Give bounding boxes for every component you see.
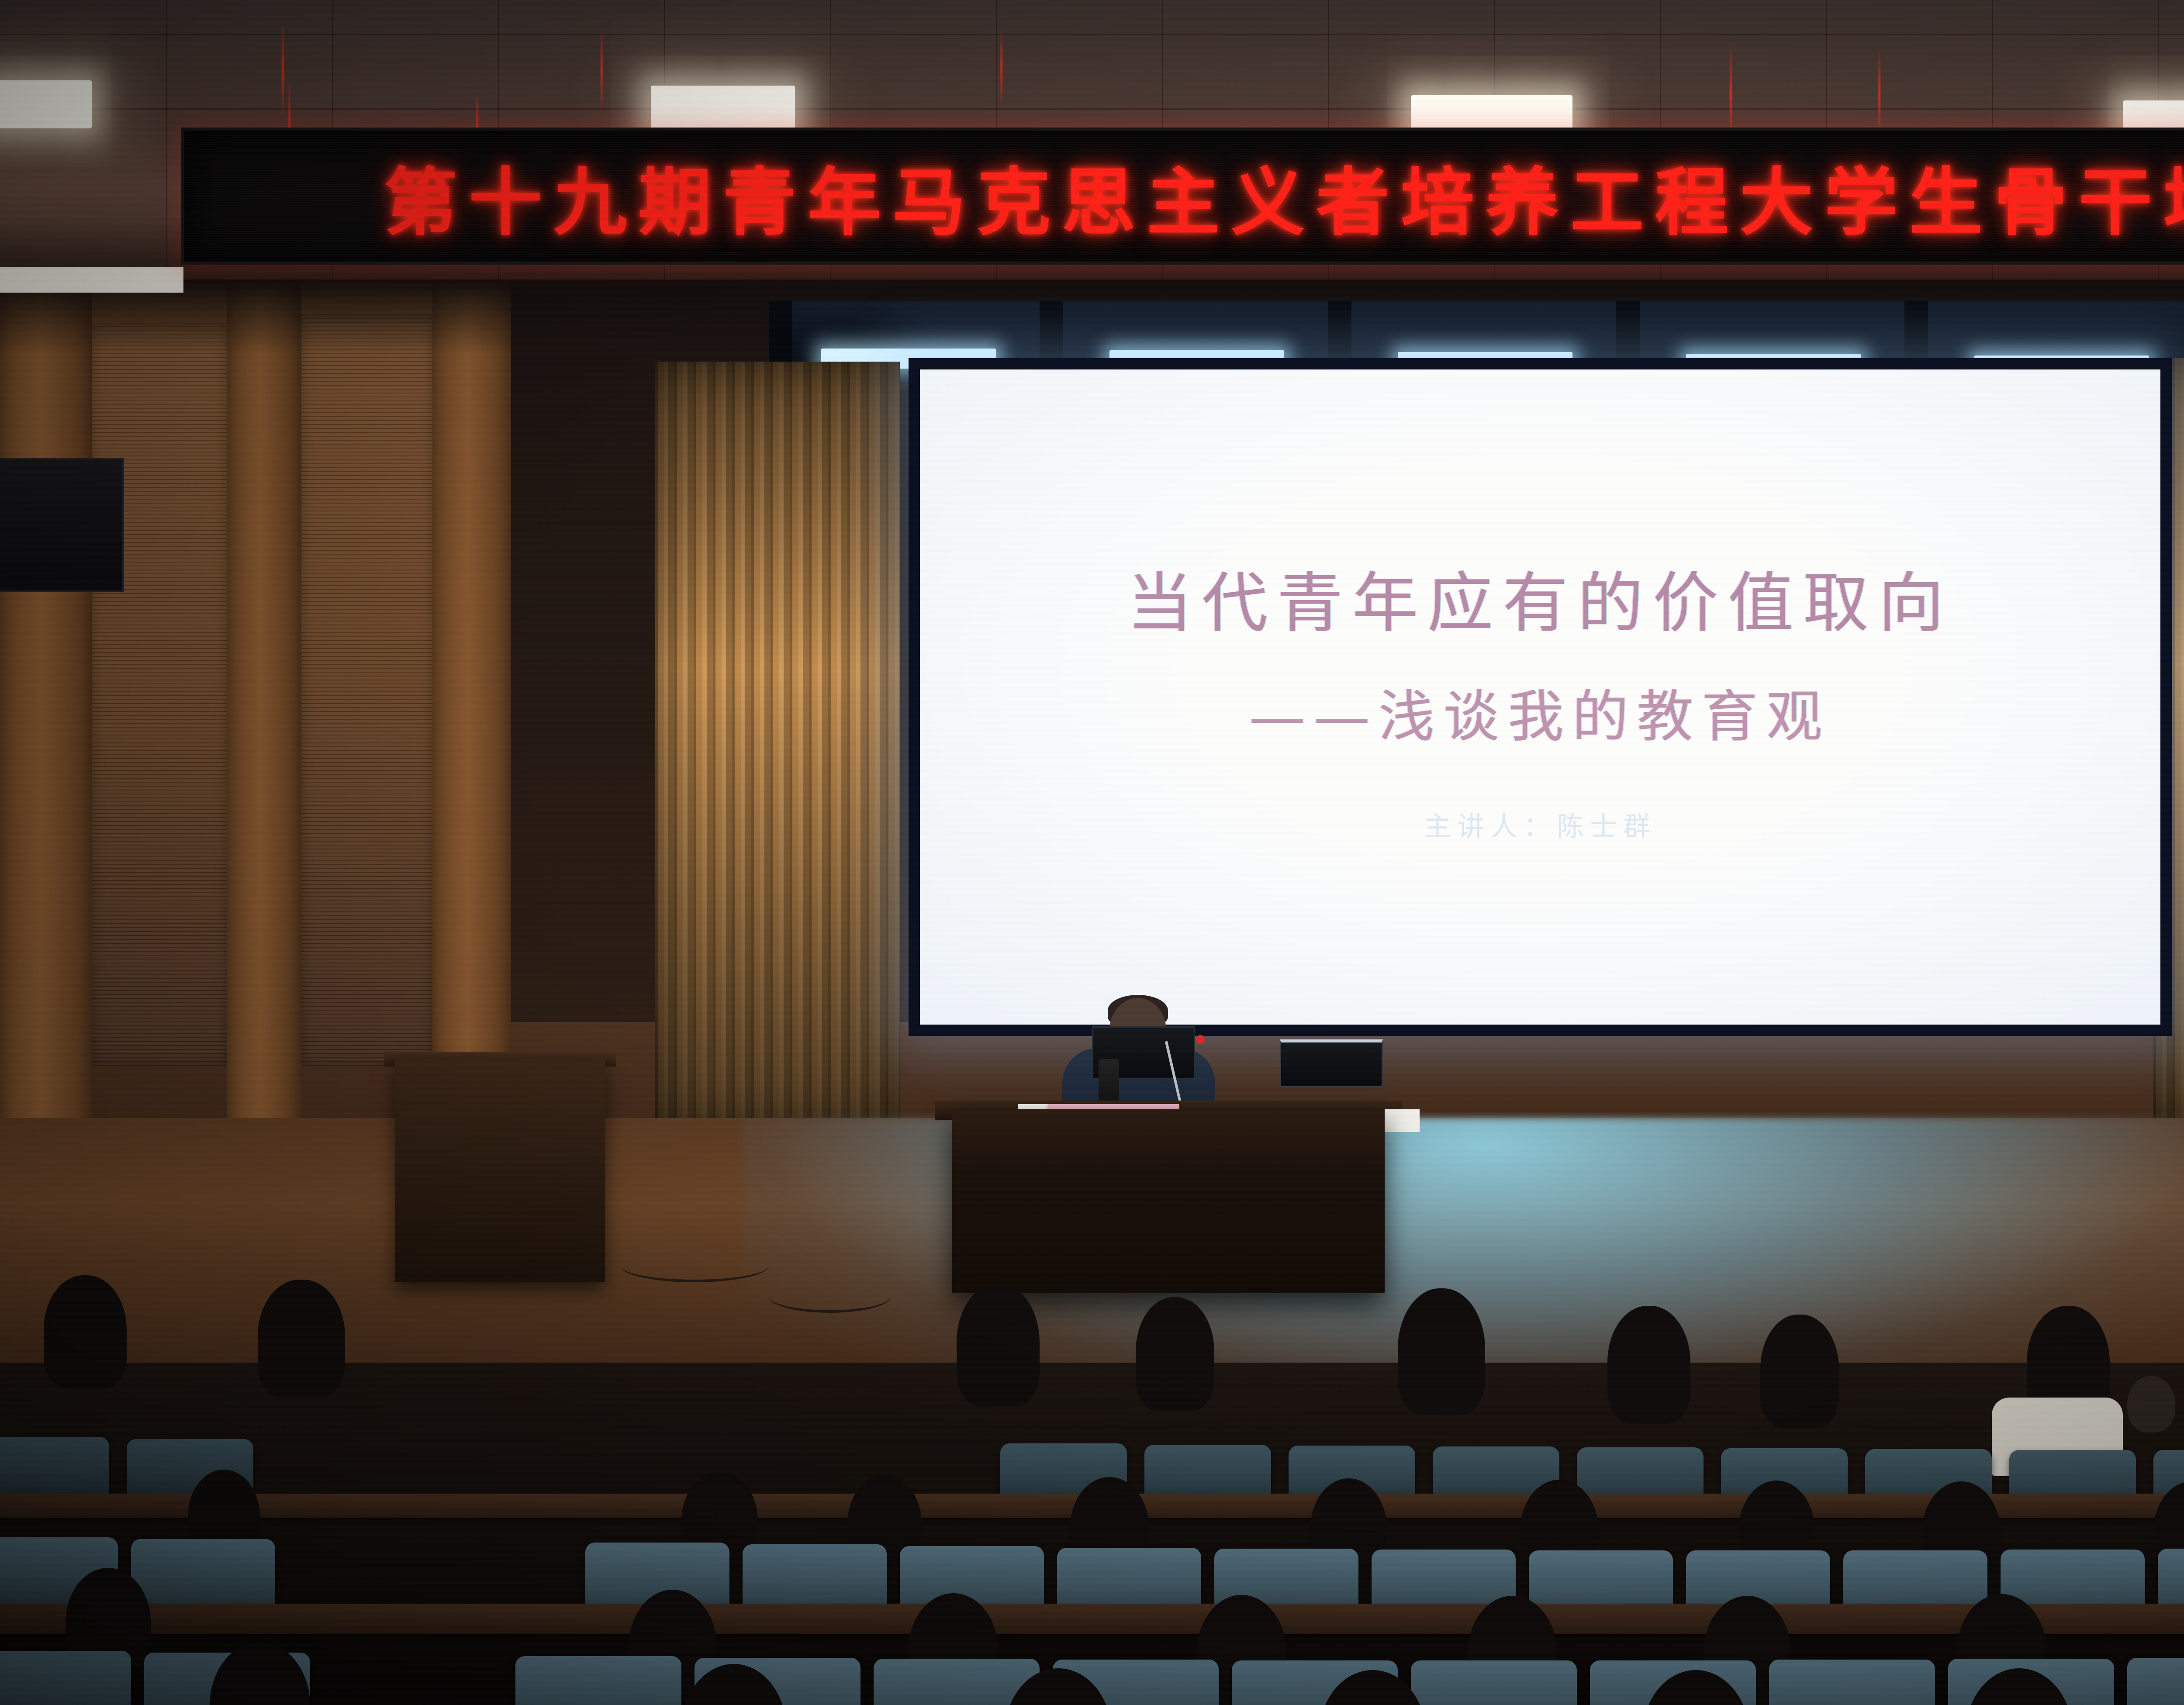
audience-head: [1398, 1288, 1485, 1415]
desk: [0, 1604, 2184, 1634]
seat: [2127, 1658, 2184, 1705]
wall-speaker-left: [0, 458, 124, 592]
ceiling-soffit: [0, 267, 183, 293]
microphone-head: [1196, 1035, 1205, 1044]
audience-head: [2127, 1376, 2175, 1432]
slide-title: 当代青年应有的价值取向: [1127, 550, 1953, 645]
projection-screen-frame: 当代青年应有的价值取向 ——浅谈我的教育观 主讲人：陈士群: [909, 358, 2172, 1036]
stage-cable: [620, 1249, 769, 1282]
podium: [395, 1059, 605, 1282]
laptop-secondary: [1280, 1039, 1383, 1087]
ceiling-light-panel: [0, 80, 92, 128]
led-banner-text: 第十九期青年马克思主义者培养工程大学生骨干培训班专题报告: [384, 143, 2184, 249]
seat: [0, 1651, 131, 1705]
seat: [131, 1539, 275, 1609]
led-banner: 第十九期青年马克思主义者培养工程大学生骨干培训班专题报告: [181, 128, 2184, 265]
audience-area: [0, 1363, 2184, 1705]
water-bottle-table: [1099, 1059, 1119, 1107]
seat: [1411, 1660, 1577, 1705]
slide-subtitle: ——浅谈我的教育观: [1249, 671, 1831, 752]
stage-cable: [769, 1280, 891, 1313]
stage-curtain-left: [655, 362, 900, 1130]
seat: [515, 1656, 681, 1705]
slide-presenter: 主讲人：陈士群: [1424, 804, 1656, 844]
seat: [0, 1437, 109, 1498]
projection-screen: 当代青年应有的价值取向 ——浅谈我的教育观 主讲人：陈士群: [920, 369, 2160, 1025]
audience-head: [1607, 1306, 1690, 1424]
audience-head: [1136, 1297, 1214, 1411]
presenter-table: [952, 1109, 1385, 1293]
audience-head: [210, 1642, 310, 1705]
auditorium-photo: 第十九期青年马克思主义者培养工程大学生骨干培训班专题报告 当代青年应有的价值取向…: [0, 0, 2184, 1705]
seat: [1769, 1660, 1935, 1705]
audience-head: [258, 1280, 345, 1398]
audience-head: [44, 1275, 127, 1389]
audience-head: [957, 1284, 1040, 1406]
audience-head: [1760, 1315, 1839, 1428]
